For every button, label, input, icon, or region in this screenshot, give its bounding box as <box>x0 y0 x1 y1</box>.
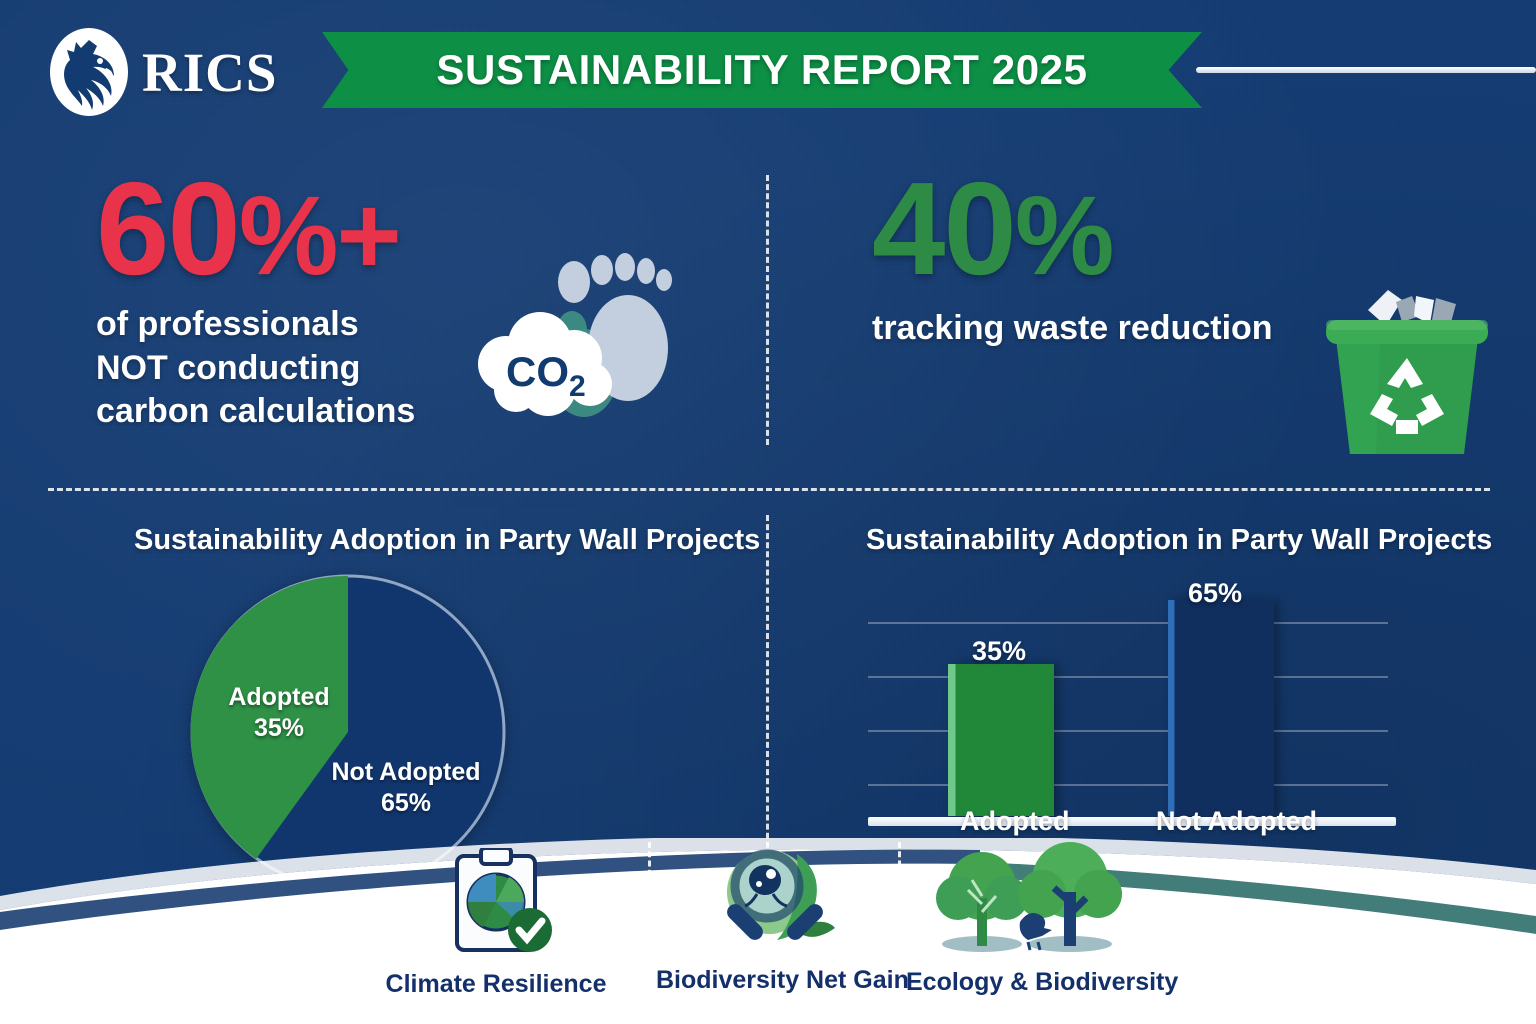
footer-item-label: Biodiversity Net Gain <box>656 966 892 995</box>
divider-vertical-top <box>766 175 769 445</box>
footer: Climate Resilience Biodiversity Net Gain <box>0 838 1536 1024</box>
divider-vertical-bottom <box>766 515 769 875</box>
stat-number: 60 <box>96 155 239 302</box>
stat-caption-carbon: of professionals NOT conducting carbon c… <box>96 303 415 434</box>
bar-chart-title: Sustainability Adoption in Party Wall Pr… <box>866 524 1492 557</box>
bar-not-adopted <box>1168 600 1274 816</box>
pie-slice-name: Not Adopted <box>316 757 496 788</box>
pie-slice-value: 35% <box>204 713 354 744</box>
stat-block-carbon: 60%+ of professionals NOT conducting car… <box>96 168 415 434</box>
stat-value-carbon: 60%+ <box>96 168 415 289</box>
header: RICS SUSTAINABILITY REPORT 2025 <box>0 0 1536 140</box>
footer-item-label: Ecology & Biodiversity <box>906 968 1142 997</box>
bar-value-not-adopted: 65% <box>1188 578 1242 609</box>
footer-item-biodiversity-net-gain[interactable]: Biodiversity Net Gain <box>656 844 892 995</box>
pie-slice-label-not-adopted: Not Adopted 65% <box>316 757 496 818</box>
stat-suffix: % <box>1015 173 1113 298</box>
pie-slice-name: Adopted <box>204 682 354 713</box>
bar-value-adopted: 35% <box>972 636 1026 667</box>
stat-suffix: %+ <box>239 173 400 298</box>
stat-caption-line: carbon calculations <box>96 390 415 434</box>
bar-adopted <box>948 664 1054 816</box>
pie-slice-label-adopted: Adopted 35% <box>204 682 354 743</box>
pie-chart-title: Sustainability Adoption in Party Wall Pr… <box>134 524 760 557</box>
bar-category-adopted: Adopted <box>960 806 1069 837</box>
banner-title: SUSTAINABILITY REPORT 2025 <box>436 46 1087 94</box>
stat-caption-waste: tracking waste reduction <box>872 307 1273 351</box>
infographic-page: RICS SUSTAINABILITY REPORT 2025 60%+ of … <box>0 0 1536 1024</box>
bar-chart: 35% 65% Adopted Not Adopted <box>868 584 1468 834</box>
brand-logo: RICS <box>48 26 277 118</box>
footer-item-climate-resilience[interactable]: Climate Resilience <box>378 848 614 999</box>
stat-value-waste: 40% <box>872 168 1273 289</box>
bar-category-not-adopted: Not Adopted <box>1156 806 1317 837</box>
clipboard-pie-check-icon <box>378 848 614 956</box>
magnifier-leaf-icon <box>656 844 892 952</box>
brand-logo-text: RICS <box>142 41 277 104</box>
banner-ribbon: SUSTAINABILITY REPORT 2025 <box>322 32 1202 108</box>
co2-footprint-icon: CO2 <box>462 238 702 428</box>
footer-item-label: Climate Resilience <box>378 970 614 999</box>
pie-slice-value: 65% <box>316 788 496 819</box>
banner-rule-line <box>1196 67 1536 73</box>
recycling-bin-icon <box>1312 262 1502 462</box>
stat-block-waste: 40% tracking waste reduction <box>872 168 1273 351</box>
footer-divider-2 <box>898 842 901 950</box>
stat-caption-line: of professionals <box>96 303 415 347</box>
footer-item-ecology-biodiversity[interactable]: Ecology & Biodiversity <box>906 846 1142 997</box>
stat-caption-line: NOT conducting <box>96 347 415 391</box>
footer-divider-1 <box>648 842 651 950</box>
stat-number: 40 <box>872 155 1015 302</box>
bar-series <box>868 600 1388 816</box>
trees-bird-icon <box>906 846 1142 954</box>
divider-horizontal <box>48 488 1490 491</box>
stat-caption-line: tracking waste reduction <box>872 307 1273 351</box>
rics-lion-logo-icon <box>48 26 130 118</box>
